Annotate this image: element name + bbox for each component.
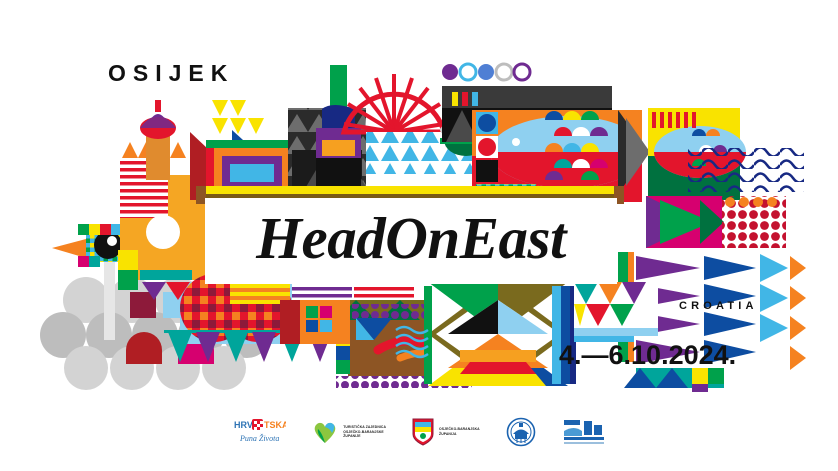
svg-text:Puna Života: Puna Života — [239, 433, 279, 443]
green-heart-icon — [312, 419, 338, 445]
event-dates: 4.—6.10.2024. — [559, 340, 736, 371]
title-band: HeadOnEast — [205, 198, 617, 278]
sponsor-logo-zupanija: OSJEČKO-BARANJSKA ŽUPANIJA — [412, 412, 480, 452]
svg-text:HRV: HRV — [234, 420, 253, 430]
sponsor-logo-hrvatska: HRV TSKA Puna Života — [232, 412, 286, 452]
partner-institution-icon — [562, 417, 606, 447]
sponsor-logo-strip: HRV TSKA Puna Života TURISTIČKA ZAJEDNIC… — [0, 408, 838, 456]
sponsor-logo-zupanija-text: OSJEČKO-BARANJSKA ŽUPANIJA — [439, 427, 480, 437]
city-label: OSIJEK — [108, 62, 234, 85]
sponsor-logo-grad-osijek — [506, 412, 536, 452]
sponsor-logo-turisticka-zajednica: TURISTIČKA ZAJEDNICA OSJEČKO-BARANJSKE Ž… — [312, 412, 386, 452]
page-title: HeadOnEast — [205, 198, 617, 278]
country-label: CROATIA — [679, 300, 758, 312]
coat-of-arms-icon — [412, 418, 434, 446]
poster: OSIJEK HeadOnEast CROATIA 4.—6.10.2024. … — [0, 0, 838, 471]
hrvatska-puna-zivota-icon: HRV TSKA Puna Života — [232, 415, 286, 449]
svg-text:TSKA: TSKA — [264, 420, 286, 430]
sponsor-logo-partner — [562, 412, 606, 452]
city-seal-icon — [506, 417, 536, 447]
sponsor-logo-turisticka-zajednica-text: TURISTIČKA ZAJEDNICA OSJEČKO-BARANJSKE Ž… — [343, 425, 386, 440]
